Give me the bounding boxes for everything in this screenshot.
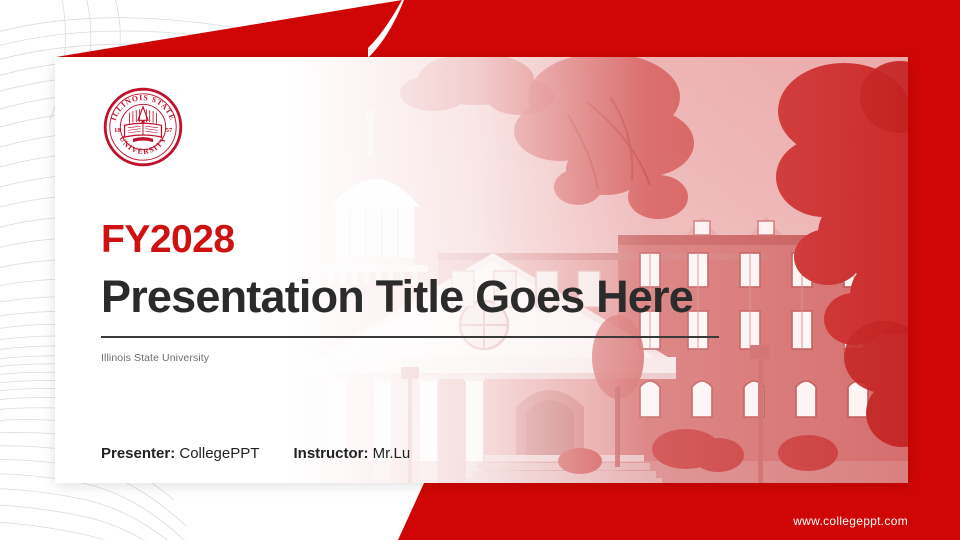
title-block: FY2028 Presentation Title Goes Here Illi… bbox=[101, 220, 861, 364]
fiscal-year-label: FY2028 bbox=[101, 220, 861, 259]
credits-line: Presenter: CollegePPT Instructor: Mr.Lu bbox=[101, 445, 410, 462]
page-title: Presentation Title Goes Here bbox=[101, 273, 861, 322]
presentation-slide: ILLINOIS STATE UNIVERSITY 18 57 bbox=[0, 0, 960, 540]
svg-text:57: 57 bbox=[166, 127, 173, 134]
svg-text:18: 18 bbox=[114, 127, 121, 134]
presenter-name: CollegePPT bbox=[179, 445, 259, 462]
title-divider bbox=[101, 336, 719, 338]
illinois-state-university-seal-logo: ILLINOIS STATE UNIVERSITY 18 57 bbox=[101, 85, 185, 169]
instructor-name: Mr.Lu bbox=[373, 445, 411, 462]
presenter-label: Presenter: bbox=[101, 445, 175, 462]
instructor-label: Instructor: bbox=[294, 445, 369, 462]
organization-name: Illinois State University bbox=[101, 352, 861, 364]
content-card: ILLINOIS STATE UNIVERSITY 18 57 bbox=[55, 57, 908, 483]
footer-website-url: www.collegeppt.com bbox=[793, 514, 908, 528]
